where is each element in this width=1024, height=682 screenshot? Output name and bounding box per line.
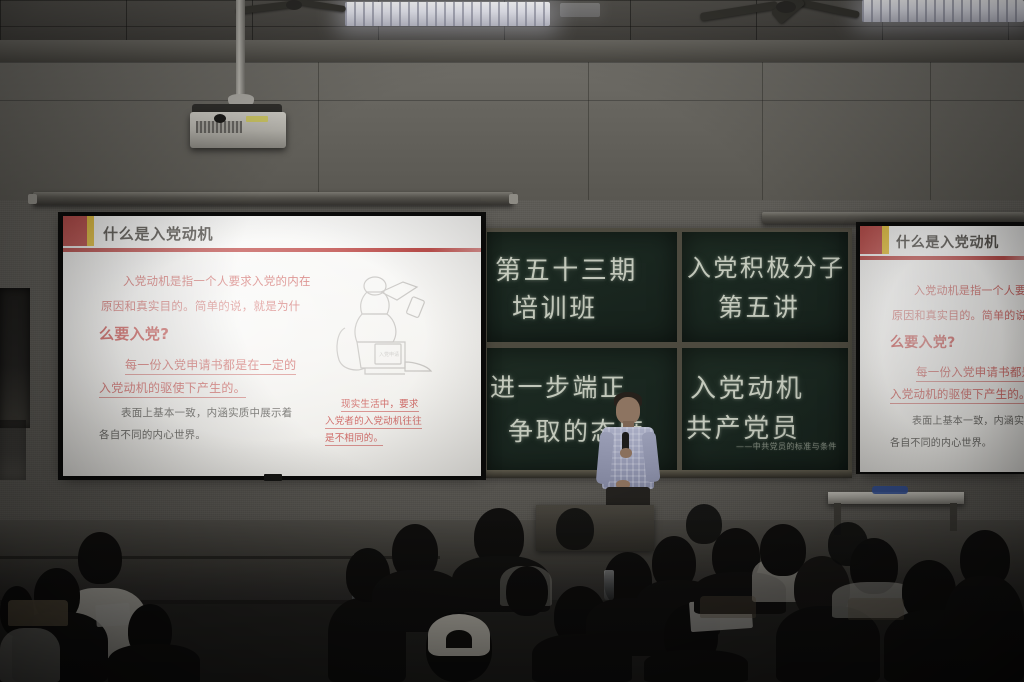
water-bottle[interactable] <box>604 570 614 600</box>
slide-body-line-1: 入党动机是指一个人要求入党的内在 <box>123 273 311 289</box>
slide-right-line-1: 入党动机是指一个人要求入党的内在 <box>914 282 1024 298</box>
slide-right-line-2: 原因和真实目的。简单的说，就是为什 <box>892 307 1024 323</box>
wall-joint-line <box>930 62 931 212</box>
projector-lens <box>214 114 226 123</box>
chair <box>8 600 68 626</box>
lecture-hall-photo: 第五十三期 培训班 入党积极分子 第五讲 进一步端正 争取的态度 入党动机 共产… <box>0 0 1024 682</box>
svg-text:入党申请: 入党申请 <box>379 351 399 358</box>
slide-title-yellow-stripe <box>87 216 94 246</box>
slide-body-line-2: 原因和真实目的。简单的说，就是为什 <box>101 298 300 314</box>
slide-right-line-7: 各自不同的内心世界。 <box>890 434 992 449</box>
slide-right-title-red-block <box>860 226 882 254</box>
blackboard-panel-top-left <box>487 232 677 342</box>
wall-joint-line <box>318 62 319 212</box>
fan-blade <box>700 1 778 21</box>
chalk-text-top-right-line2: 第五讲 <box>718 288 801 324</box>
audience-head <box>506 566 548 616</box>
ceiling-fan-right <box>700 0 870 26</box>
slide-body-line-7: 各自不同的内心世界。 <box>99 427 206 442</box>
ceiling-beam <box>0 40 1024 64</box>
audience-head-back <box>828 522 868 566</box>
chalk-text-top-left-line2: 培训班 <box>512 288 598 325</box>
slide-title-red-block <box>63 216 87 246</box>
slide-body-line-3: 么要入党? <box>99 323 169 344</box>
side-door-lower <box>0 420 26 480</box>
slide-body-line-4: 每一份入党申请书都是在一定的 <box>125 356 296 375</box>
speaker-hand-holding-mic <box>620 448 632 458</box>
fluorescent-light-dim <box>560 3 600 17</box>
fluorescent-light-center <box>345 2 550 26</box>
projector <box>190 112 286 148</box>
slide-right-line-3: 么要入党? <box>890 332 956 352</box>
chalk-signature: ——中共党员的标准与条件 <box>736 441 837 452</box>
wall-joint-line <box>588 62 589 212</box>
chalk-text-bottom-right-line1: 入党动机 <box>690 368 804 405</box>
wall-seam <box>0 100 1024 101</box>
slide-right-title-rule <box>860 256 1024 260</box>
audience-head-back <box>556 508 594 550</box>
chalk-text-top-right-line1: 入党积极分子 <box>687 248 845 283</box>
side-table-leg <box>950 503 957 531</box>
blue-folder-on-table[interactable] <box>872 486 908 494</box>
audience-head <box>78 532 122 584</box>
chalk-text-bottom-right-line2: 共产党员 <box>686 408 800 445</box>
slide-side-note-line-2: 入党者的入党动机往往 <box>325 413 422 429</box>
slide-side-note-line-1: 现实生活中，要求 <box>341 396 419 412</box>
podium[interactable] <box>536 505 654 551</box>
slide-title-underline-rule <box>63 248 481 252</box>
projection-screen-roller-left[interactable] <box>33 192 513 205</box>
audience-body <box>108 644 200 682</box>
slide-right: 什么是入党动机 入党动机是指一个人要求入党的内在 原因和真实目的。简单的说，就是… <box>860 226 1024 472</box>
light-louver-pattern-right <box>862 0 1024 22</box>
chalk-text-top-left-line1: 第五十三期 <box>495 250 638 287</box>
roller-end-cap-left <box>28 194 37 204</box>
slide-body-line-5: 入党动机的驱使下产生的。 <box>99 379 246 398</box>
projection-screen-right[interactable]: 什么是入党动机 入党动机是指一个人要求入党的内在 原因和真实目的。简单的说，就是… <box>860 226 1024 472</box>
side-door-left[interactable] <box>0 288 30 428</box>
speaker <box>588 392 668 522</box>
slide-right-line-6: 表面上基本一致，内涵实质中展示着 <box>912 412 1024 427</box>
slide-right-line-5: 入党动机的驱使下产生的。 <box>890 386 1024 404</box>
audience-body-light <box>0 628 60 682</box>
fan-hub <box>776 1 796 13</box>
slide-cartoon-telescope-icon: 入党申请 <box>331 270 441 382</box>
slide-side-note-line-3: 是不相同的。 <box>325 430 383 446</box>
chair <box>700 596 756 618</box>
slide-right-line-4: 每一份入党申请书都是在一定的 <box>916 364 1024 382</box>
projector-mount-pole <box>236 0 245 98</box>
roller-end-cap-right <box>509 194 518 204</box>
slide-right-title-yellow-stripe <box>882 226 889 254</box>
speaker-head <box>616 397 640 424</box>
slide-title: 什么是入党动机 <box>103 223 213 244</box>
projection-screen-left[interactable]: 什么是入党动机 入党动机是指一个人要求入党的内在 原因和真实目的。简单的说，就是… <box>63 216 481 476</box>
cap-opening <box>446 630 472 648</box>
ceiling-fan-left <box>236 0 356 22</box>
audience-body <box>644 650 748 682</box>
light-louver-pattern <box>345 2 550 26</box>
slide-left: 什么是入党动机 入党动机是指一个人要求入党的内在 原因和真实目的。简单的说，就是… <box>63 216 481 476</box>
upper-wall <box>0 62 1024 212</box>
wall-seam-top <box>0 62 1024 63</box>
audience-body <box>944 576 1024 682</box>
slide-body-line-6: 表面上基本一致，内涵实质中展示着 <box>121 405 292 420</box>
projector-label <box>246 116 268 122</box>
wall-joint-line <box>762 62 763 212</box>
fluorescent-light-right <box>862 0 1024 22</box>
fan-hub <box>286 0 302 10</box>
chair <box>848 598 904 620</box>
screen-pull-tab-left[interactable] <box>264 474 282 481</box>
slide-right-title: 什么是入党动机 <box>896 232 999 252</box>
notebook-paper <box>95 603 130 627</box>
audience-head-back <box>686 504 722 544</box>
